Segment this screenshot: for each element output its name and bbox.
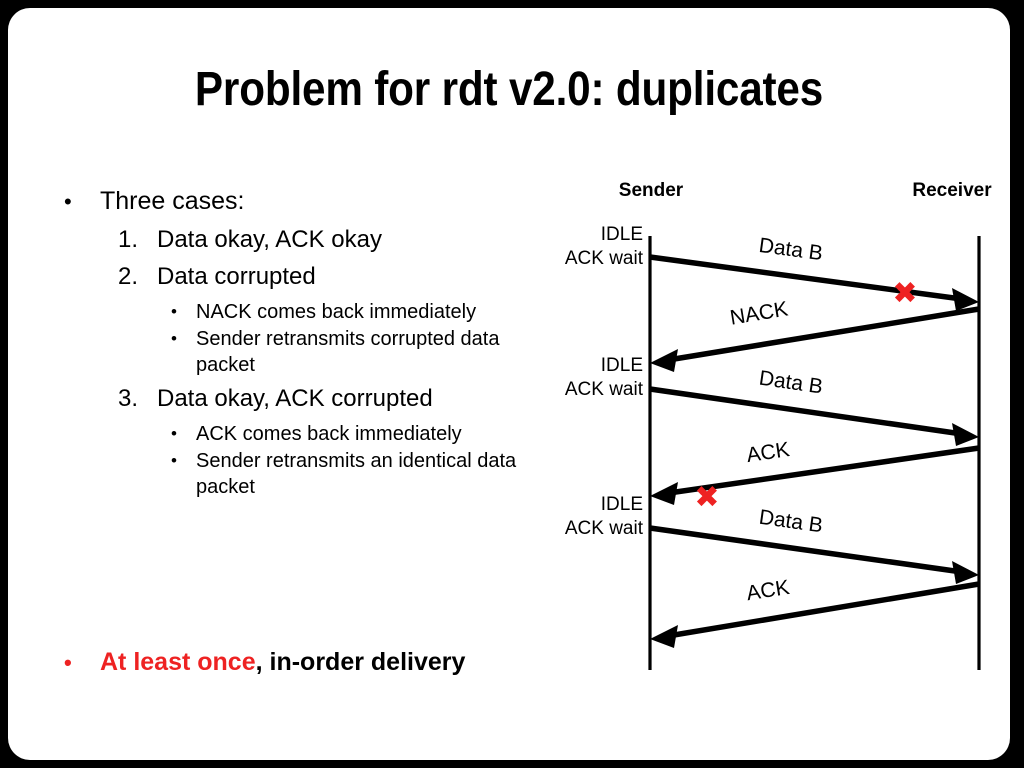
bullet-case-3-sub-1: • ACK comes back immediately — [52, 421, 544, 447]
bullet-marker: • — [64, 186, 72, 217]
message-line-ack-2 — [662, 584, 979, 637]
arrowhead-data-b-3 — [952, 561, 979, 584]
conclusion-rest: , in-order delivery — [256, 648, 466, 676]
bullet-case-2-sub-1-text: NACK comes back immediately — [196, 301, 476, 323]
bullet-marker: • — [171, 421, 177, 447]
arrowhead-data-b-2 — [952, 423, 979, 446]
message-label-data-b-1: Data B — [758, 234, 825, 265]
bullet-case-3-sub-2: • Sender retransmits an identical data p… — [52, 448, 544, 500]
state-label-ackwait-1: ACK wait — [565, 248, 644, 269]
bullet-case-1-text: Data okay, ACK okay — [157, 226, 382, 253]
corruption-x-icon-2: ✖ — [694, 480, 719, 515]
bullet-marker: • — [171, 326, 177, 352]
message-label-ack-2: ACK — [745, 576, 791, 605]
slide-frame: Problem for rdt v2.0: duplicates • Three… — [8, 8, 1010, 760]
state-label-idle-2: IDLE — [601, 355, 643, 376]
corruption-x-icon-1: ✖ — [892, 276, 917, 311]
bullet-case-3: 3. Data okay, ACK corrupted — [52, 384, 544, 414]
state-label-ackwait-2: ACK wait — [565, 379, 644, 400]
bullet-marker: • — [64, 647, 72, 678]
bullet-case-3-sub-1-text: ACK comes back immediately — [196, 423, 462, 445]
message-label-nack: NACK — [728, 298, 789, 330]
bullet-marker: • — [171, 299, 177, 325]
message-label-data-b-2: Data B — [758, 367, 825, 399]
bullet-intro-text: Three cases: — [100, 187, 245, 215]
state-label-ackwait-3: ACK wait — [565, 518, 644, 539]
bullet-case-2-sub-2: • Sender retransmits corrupted data pack… — [52, 326, 544, 378]
arrowhead-ack-2 — [650, 625, 678, 648]
message-label-ack-1: ACK — [745, 438, 791, 467]
bullet-list: • Three cases: 1. Data okay, ACK okay 2.… — [52, 186, 544, 501]
page-title: Problem for rdt v2.0: duplicates — [68, 62, 950, 117]
bullet-case-2-sub-1: • NACK comes back immediately — [52, 299, 544, 325]
bullet-conclusion: •At least once, in-order delivery — [52, 647, 572, 678]
bullet-case-2: 2. Data corrupted — [52, 262, 544, 292]
bullet-case-1: 1. Data okay, ACK okay — [52, 225, 544, 255]
bullet-marker: • — [171, 448, 177, 474]
arrowhead-nack — [650, 349, 678, 372]
bullet-intro: • Three cases: — [52, 186, 544, 217]
sequence-diagram: Sender Receiver IDLE ACK wait Data B ✖ N… — [528, 163, 1010, 693]
message-label-data-b-3: Data B — [758, 506, 825, 538]
message-line-nack — [662, 309, 979, 361]
bullet-case-3-sub-2-text: Sender retransmits an identical data pac… — [196, 450, 516, 498]
bullet-case-3-text: Data okay, ACK corrupted — [157, 385, 433, 412]
list-number: 3. — [118, 384, 138, 414]
lane-title-sender: Sender — [619, 180, 684, 201]
bullet-case-2-text: Data corrupted — [157, 263, 316, 290]
conclusion-emphasis: At least once — [100, 648, 256, 676]
list-number: 1. — [118, 225, 138, 255]
bullet-case-2-sub-2-text: Sender retransmits corrupted data packet — [196, 328, 500, 376]
lane-title-receiver: Receiver — [912, 180, 992, 201]
state-label-idle-1: IDLE — [601, 224, 643, 245]
state-label-idle-3: IDLE — [601, 494, 643, 515]
list-number: 2. — [118, 262, 138, 292]
arrowhead-ack-1 — [650, 482, 678, 505]
